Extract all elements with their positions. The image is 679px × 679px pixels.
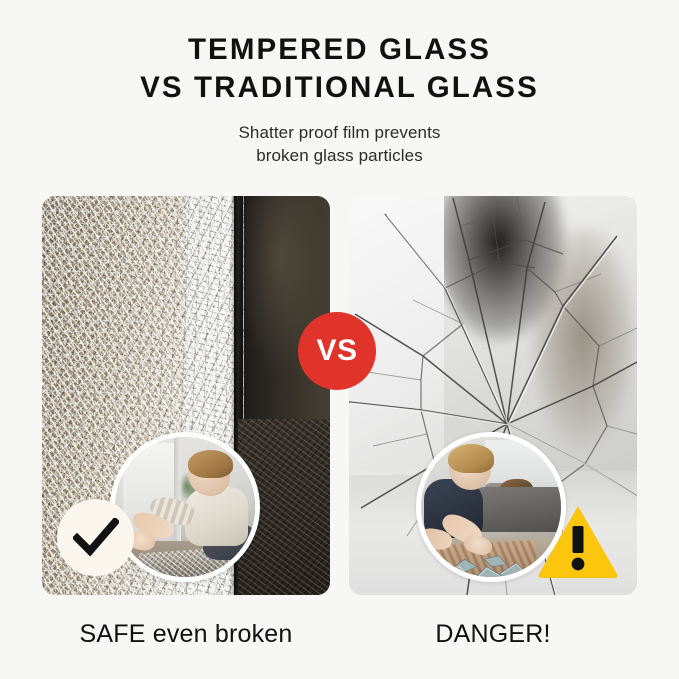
tempered-glass-inset-photo — [110, 432, 260, 582]
infographic-canvas: TEMPERED GLASS VS TRADITIONAL GLASS Shat… — [0, 0, 679, 679]
page-title: TEMPERED GLASS VS TRADITIONAL GLASS — [0, 0, 679, 107]
safe-check-badge — [57, 499, 134, 576]
vs-badge: VS — [298, 312, 376, 390]
danger-warning-badge — [536, 502, 620, 580]
subtitle-line-2: broken glass particles — [0, 144, 679, 167]
warning-triangle-icon — [536, 502, 620, 580]
header-block: TEMPERED GLASS VS TRADITIONAL GLASS Shat… — [0, 0, 679, 167]
tempered-glass-caption: SAFE even broken — [37, 621, 335, 649]
title-line-1: TEMPERED GLASS — [0, 31, 679, 69]
title-line-2: VS TRADITIONAL GLASS — [0, 69, 679, 107]
subtitle-line-1: Shatter proof film prevents — [0, 121, 679, 144]
check-icon — [73, 518, 119, 558]
vs-badge-label: VS — [316, 336, 357, 366]
traditional-glass-caption: DANGER! — [344, 621, 642, 649]
page-subtitle: Shatter proof film prevents broken glass… — [0, 107, 679, 167]
